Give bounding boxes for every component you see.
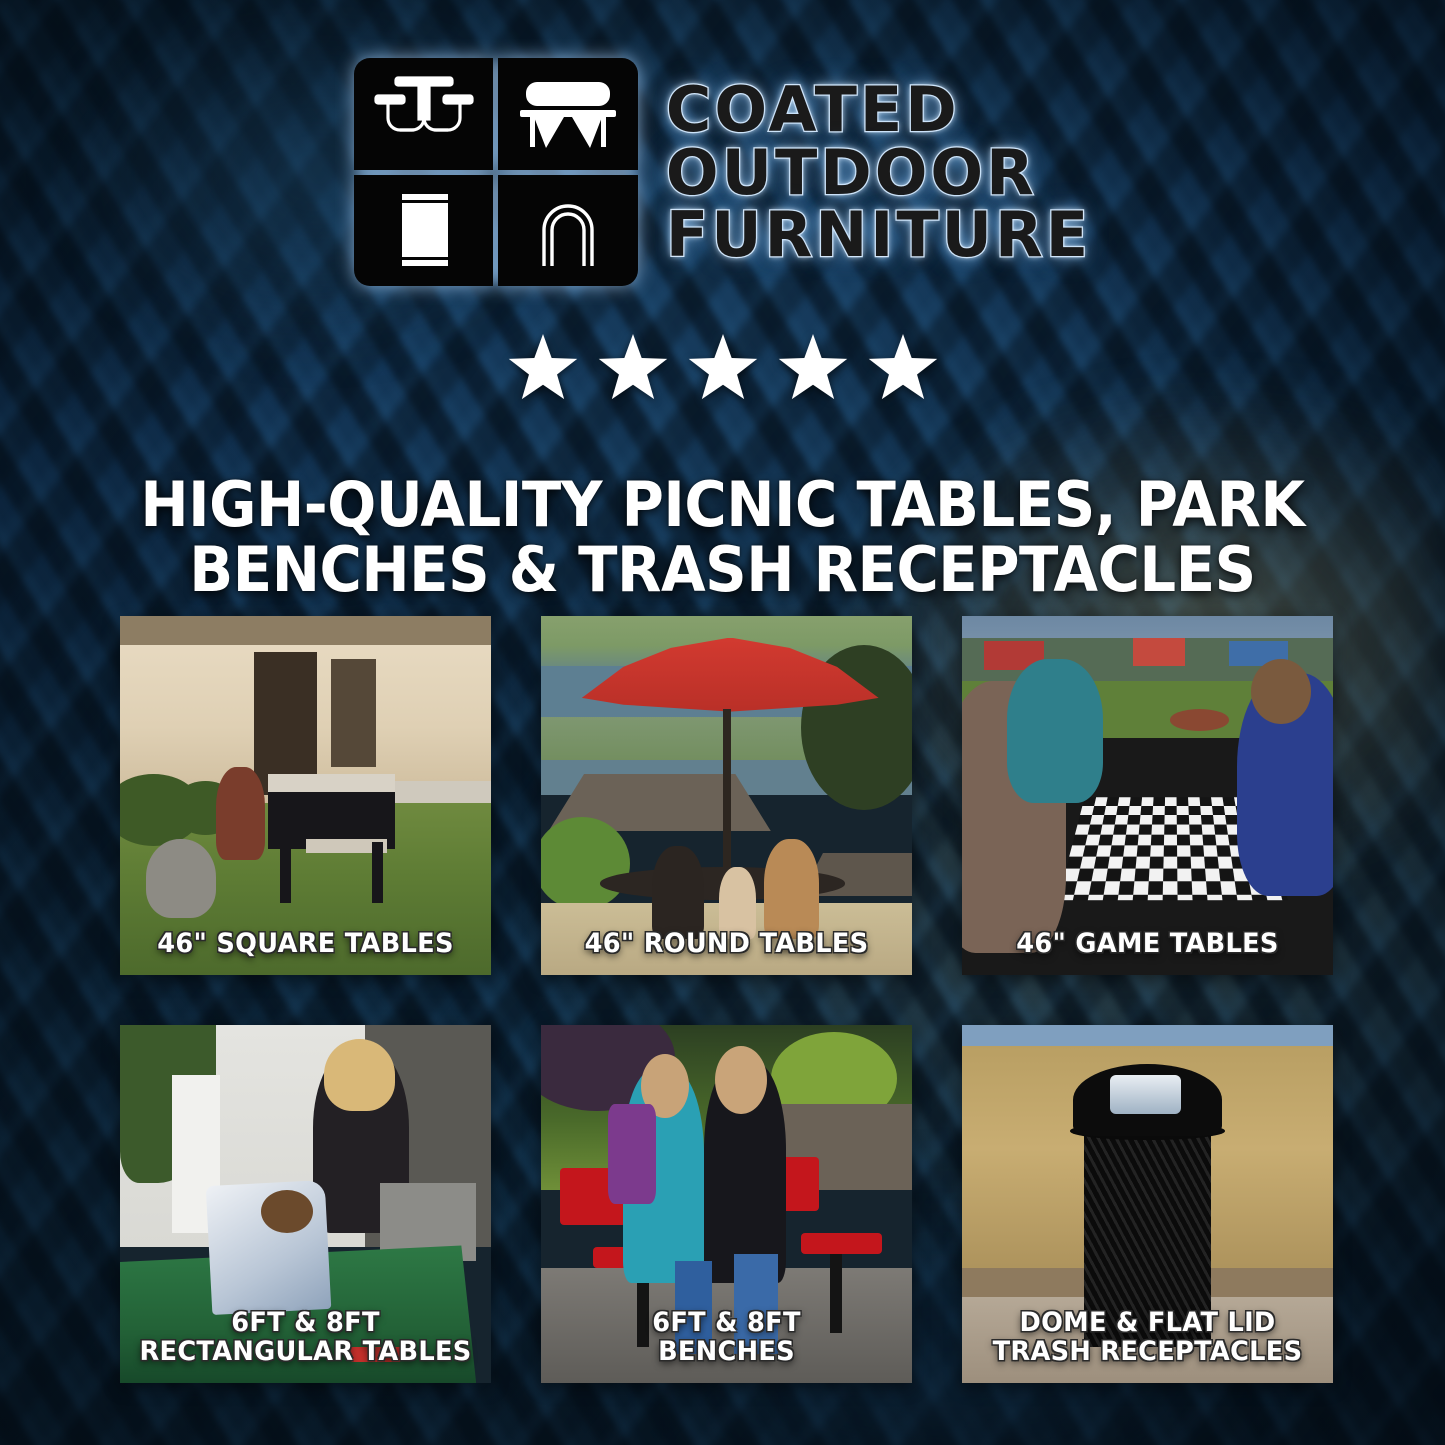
star-icon: [776, 334, 850, 406]
star-icon: [866, 334, 940, 406]
star-rating: [0, 334, 1445, 406]
trash-receptacle-icon: [354, 175, 494, 287]
star-icon: [686, 334, 760, 406]
product-caption-square-tables: 46" SQUARE TABLES: [129, 929, 481, 959]
caption-line: DOME & FLAT LID: [971, 1308, 1323, 1338]
caption-line: BENCHES: [550, 1337, 902, 1367]
caption-line: 46" SQUARE TABLES: [129, 929, 481, 959]
park-bench-icon: [498, 58, 638, 170]
product-grid: 46" SQUARE TABLES 46": [120, 616, 1325, 1383]
headline-line-1: HIGH-QUALITY PICNIC TABLES, PARK: [51, 472, 1395, 538]
product-tile-game-tables[interactable]: 46" GAME TABLES: [962, 616, 1333, 975]
product-tile-rectangular-tables[interactable]: 6FT & 8FT RECTANGULAR TABLES: [120, 1025, 491, 1383]
product-caption-benches: 6FT & 8FT BENCHES: [550, 1308, 902, 1367]
marketing-poster: COATED OUTDOOR FURNITURE HIGH-QUALITY PI…: [0, 0, 1445, 1445]
headline-line-2: BENCHES & TRASH RECEPTACLES: [51, 537, 1395, 603]
product-tile-benches[interactable]: 6FT & 8FT BENCHES: [541, 1025, 912, 1383]
product-caption-game-tables: 46" GAME TABLES: [971, 929, 1323, 959]
caption-line: 46" ROUND TABLES: [550, 929, 902, 959]
product-caption-rectangular-tables: 6FT & 8FT RECTANGULAR TABLES: [129, 1308, 481, 1367]
caption-line: 46" GAME TABLES: [971, 929, 1323, 959]
product-tile-trash-receptacles[interactable]: DOME & FLAT LID TRASH RECEPTACLES: [962, 1025, 1333, 1383]
bike-rack-icon: [498, 175, 638, 287]
wordmark-line-3: FURNITURE: [666, 205, 1091, 266]
brand-header: COATED OUTDOOR FURNITURE: [0, 58, 1445, 286]
picnic-table-icon: [354, 58, 494, 170]
caption-line: TRASH RECEPTACLES: [971, 1337, 1323, 1367]
product-photo-game-tables: [962, 616, 1333, 975]
product-caption-trash-receptacles: DOME & FLAT LID TRASH RECEPTACLES: [971, 1308, 1323, 1367]
page-title: HIGH-QUALITY PICNIC TABLES, PARK BENCHES…: [51, 472, 1395, 603]
product-photo-square-tables: [120, 616, 491, 975]
brand-logo-mark: [354, 58, 638, 286]
product-caption-round-tables: 46" ROUND TABLES: [550, 929, 902, 959]
product-tile-square-tables[interactable]: 46" SQUARE TABLES: [120, 616, 491, 975]
caption-line: RECTANGULAR TABLES: [129, 1337, 481, 1367]
caption-line: 6FT & 8FT: [129, 1308, 481, 1338]
brand-wordmark: COATED OUTDOOR FURNITURE: [666, 78, 1091, 266]
product-tile-round-tables[interactable]: 46" ROUND TABLES: [541, 616, 912, 975]
star-icon: [506, 334, 580, 406]
wordmark-line-1: COATED: [666, 80, 1091, 141]
star-icon: [596, 334, 670, 406]
caption-line: 6FT & 8FT: [550, 1308, 902, 1338]
wordmark-line-2: OUTDOOR: [666, 143, 1091, 204]
product-photo-round-tables: [541, 616, 912, 975]
